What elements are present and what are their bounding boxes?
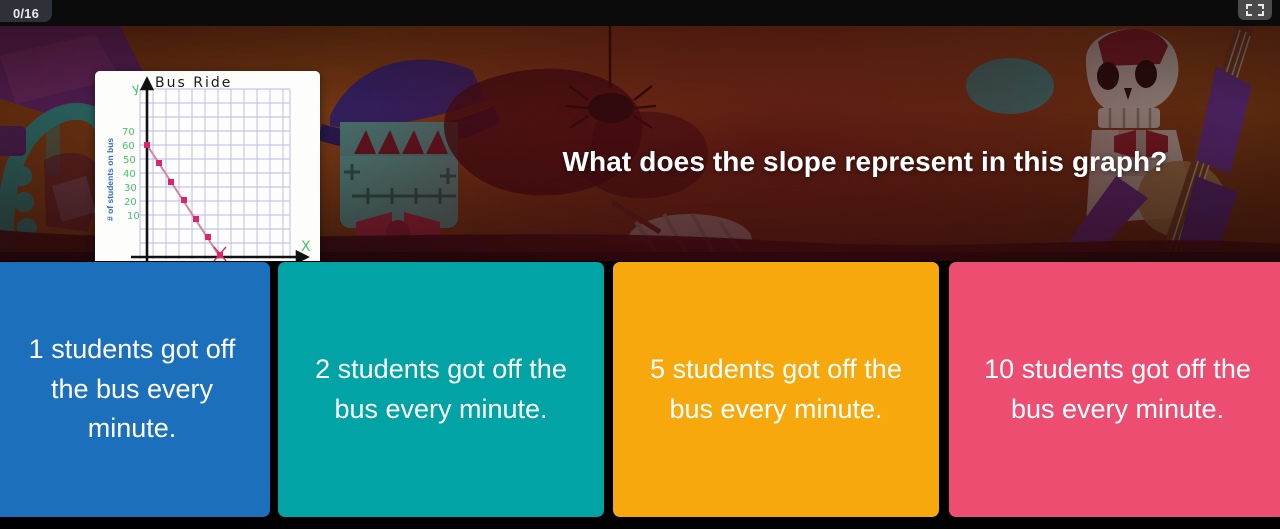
- graph-x-axis-title: Minutes: [186, 260, 228, 261]
- graph-title: Bus Ride: [155, 75, 232, 91]
- fullscreen-button[interactable]: [1238, 0, 1272, 20]
- question-text: What does the slope represent in this gr…: [480, 144, 1250, 179]
- svg-text:60: 60: [122, 141, 135, 152]
- progress-counter: 0/16: [0, 0, 52, 22]
- answer-option-3-label: 5 students got off the bus every minute.: [627, 350, 925, 430]
- quiz-screen: 0/16: [0, 0, 1280, 529]
- answer-option-2[interactable]: 2 students got off the bus every minute.: [278, 262, 604, 517]
- top-bar: 0/16: [0, 0, 1280, 26]
- answer-option-4[interactable]: 10 students got off the bus every minute…: [949, 262, 1280, 517]
- question-graph-image: y X Bus Ride 70 60 50 40 30 20 10 0 2: [95, 71, 320, 261]
- graph-y-axis-title: # of students on bus: [105, 138, 115, 221]
- answer-option-2-label: 2 students got off the bus every minute.: [292, 350, 590, 430]
- svg-text:40: 40: [123, 169, 136, 180]
- svg-text:50: 50: [123, 155, 136, 166]
- answer-choices: 1 students got off the bus every minute.…: [0, 262, 1280, 518]
- svg-text:20: 20: [124, 197, 137, 208]
- svg-text:70: 70: [122, 127, 135, 138]
- progress-counter-label: 0/16: [13, 6, 39, 21]
- answer-option-3[interactable]: 5 students got off the bus every minute.: [613, 262, 939, 517]
- answer-option-1-label: 1 students got off the bus every minute.: [8, 330, 256, 450]
- svg-text:10: 10: [127, 211, 140, 222]
- question-stage: What does the slope represent in this gr…: [0, 26, 1280, 261]
- answer-option-4-label: 10 students got off the bus every minute…: [963, 350, 1272, 430]
- fullscreen-expand-icon: [1245, 3, 1265, 17]
- graph-x-axis-letter: X: [301, 239, 311, 255]
- svg-text:30: 30: [124, 183, 137, 194]
- answer-option-1[interactable]: 1 students got off the bus every minute.: [0, 262, 270, 517]
